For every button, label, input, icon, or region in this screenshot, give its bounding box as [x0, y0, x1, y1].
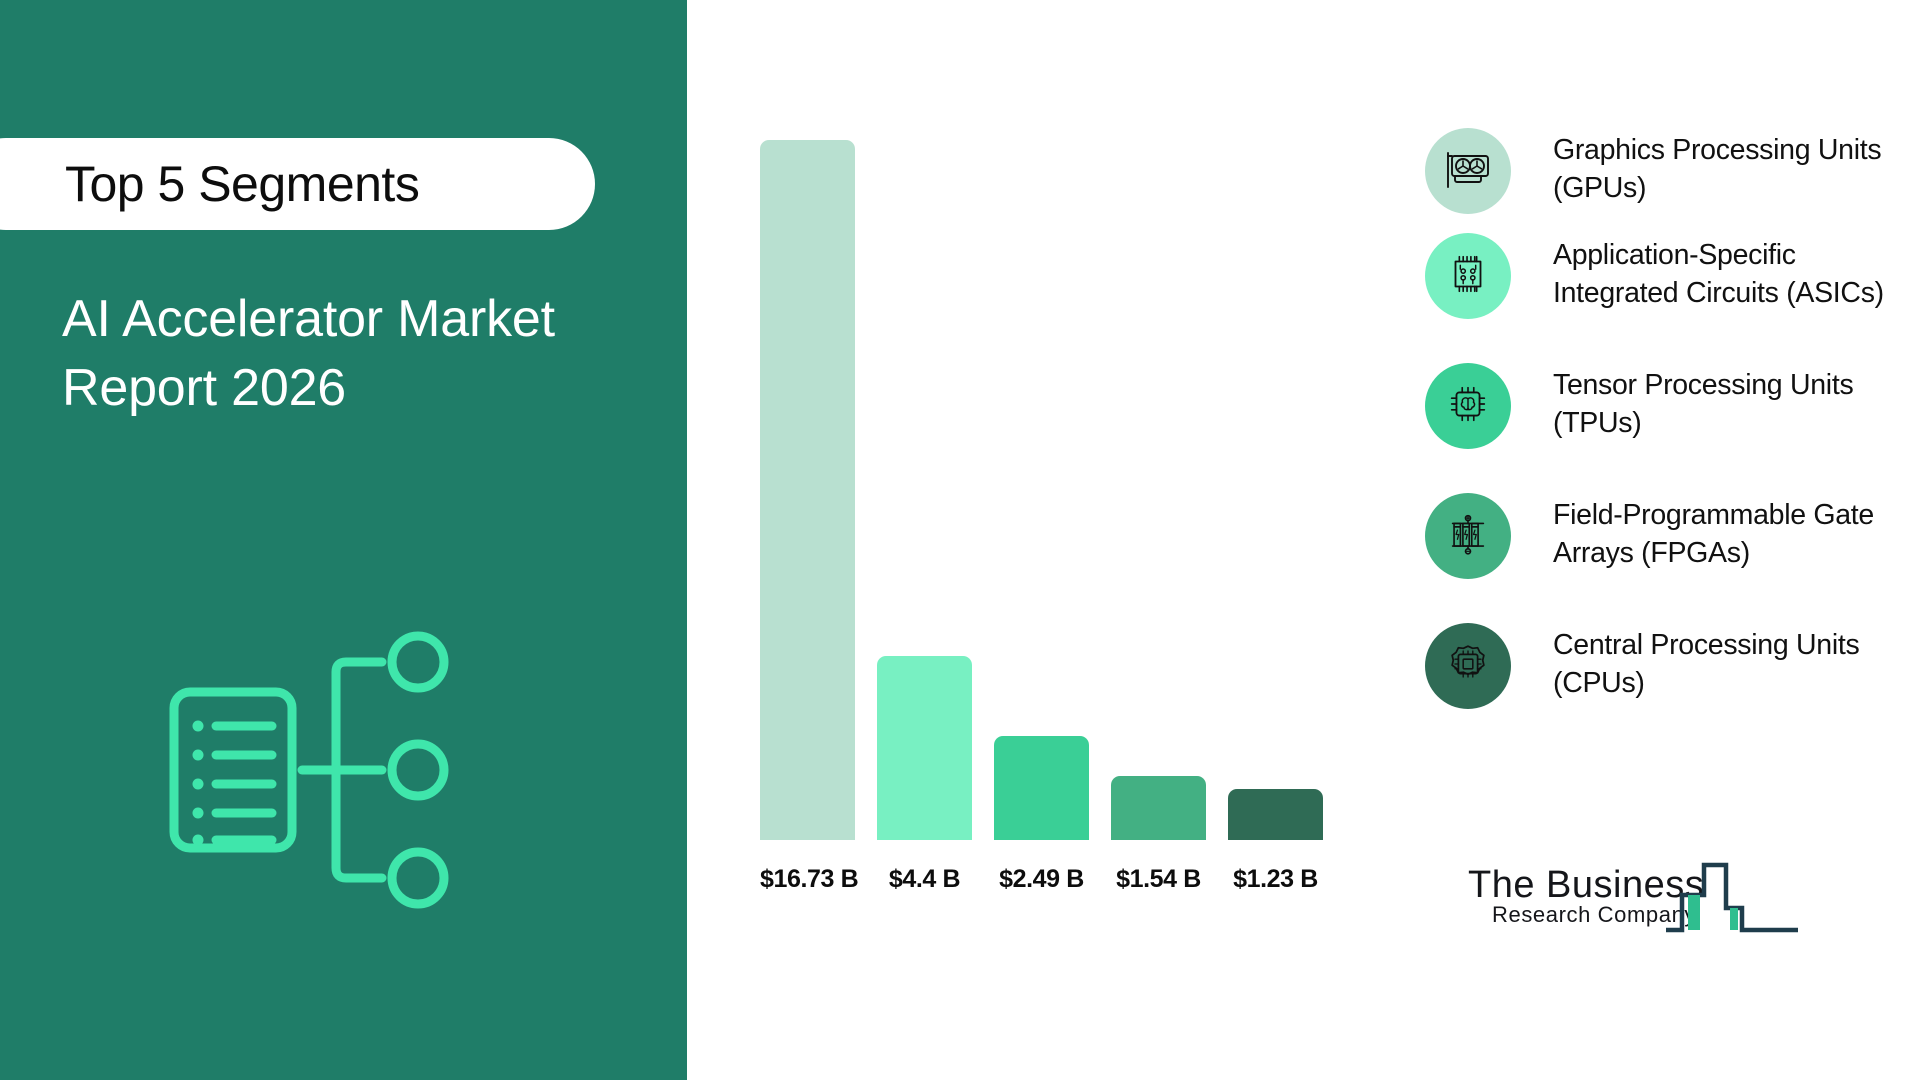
- bar-value-label: $16.73 B: [760, 865, 855, 894]
- graphics-card-icon: [1442, 143, 1494, 200]
- left-panel: Top 5 Segments AI Accelerator Market Rep…: [0, 0, 687, 1080]
- legend-badge: [1425, 493, 1511, 579]
- bar-cpus: [1228, 789, 1323, 840]
- bar-fpgas: [1111, 776, 1206, 840]
- legend-item-gpus: Graphics Processing Units (GPUs): [1425, 128, 1903, 214]
- bar-column: [994, 736, 1089, 840]
- legend-label: Graphics Processing Units (GPUs): [1553, 132, 1903, 207]
- bar-value-label: $1.23 B: [1228, 865, 1323, 894]
- company-logo: The Business Research Company: [1468, 848, 1798, 934]
- segmentation-tree-icon: [160, 610, 480, 930]
- bar-value-labels: $16.73 B $4.4 B $2.49 B $1.54 B $1.23 B: [760, 865, 1400, 894]
- title-pill-label: Top 5 Segments: [65, 155, 419, 213]
- bar-asics: [877, 656, 972, 840]
- legend-badge: [1425, 128, 1511, 214]
- legend-label: Field-Programmable Gate Arrays (FPGAs): [1553, 497, 1903, 572]
- legend-item-fpgas: Field-Programmable Gate Arrays (FPGAs): [1425, 493, 1903, 579]
- bar-chart-logo-mark: [1664, 848, 1800, 943]
- asic-chip-icon: [1443, 249, 1493, 304]
- infographic-canvas: Top 5 Segments AI Accelerator Market Rep…: [0, 0, 1920, 1080]
- bar-column: [1111, 776, 1206, 840]
- legend-label: Application-Specific Integrated Circuits…: [1553, 237, 1903, 312]
- bar-chart: $16.73 B $4.4 B $2.49 B $1.54 B $1.23 B: [760, 120, 1400, 920]
- bar-value-label: $2.49 B: [994, 865, 1089, 894]
- legend-label: Tensor Processing Units (TPUs): [1553, 367, 1903, 442]
- brain-chip-icon: [1443, 379, 1493, 434]
- legend-label: Central Processing Units (CPUs): [1553, 627, 1903, 702]
- legend-item-cpus: Central Processing Units (CPUs): [1425, 623, 1903, 709]
- legend-badge: [1425, 623, 1511, 709]
- bar-column: [877, 656, 972, 840]
- bar-value-label: $4.4 B: [877, 865, 972, 894]
- legend-badge: [1425, 233, 1511, 319]
- bar-group: [760, 140, 1400, 840]
- legend-item-asics: Application-Specific Integrated Circuits…: [1425, 233, 1903, 319]
- legend-item-tpus: Tensor Processing Units (TPUs): [1425, 363, 1903, 449]
- cpu-gear-icon: [1443, 639, 1493, 694]
- bar-value-label: $1.54 B: [1111, 865, 1206, 894]
- bar-tpus: [994, 736, 1089, 840]
- legend-badge: [1425, 363, 1511, 449]
- bar-column: [1228, 789, 1323, 840]
- fpga-array-icon: [1443, 509, 1493, 564]
- bar-gpus: [760, 140, 855, 840]
- title-pill: Top 5 Segments: [0, 138, 595, 230]
- bar-column: [760, 140, 855, 840]
- page-title: AI Accelerator Market Report 2026: [62, 285, 662, 423]
